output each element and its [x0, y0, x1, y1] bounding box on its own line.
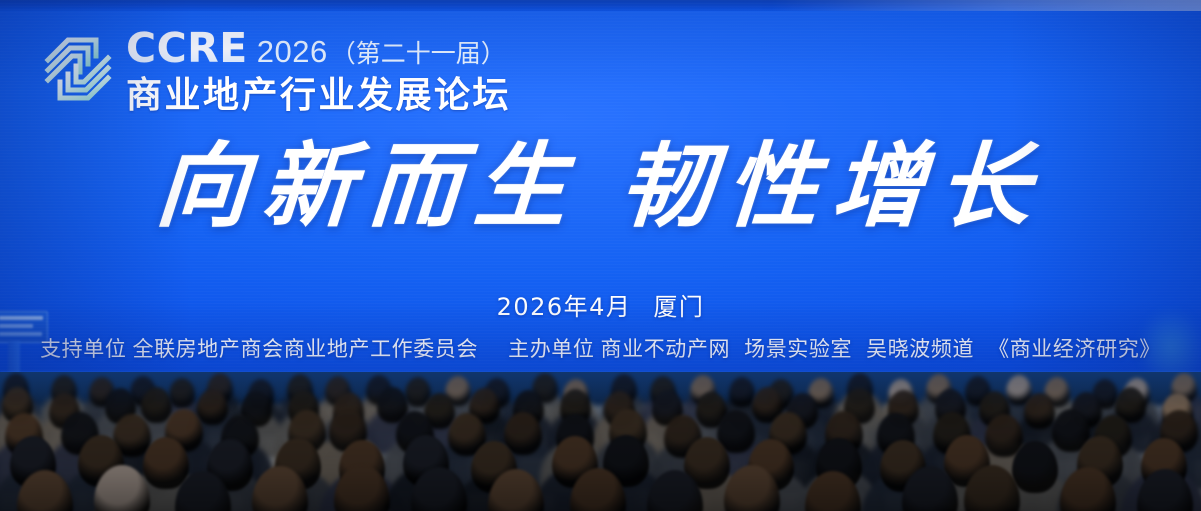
- brand-name: CCRE: [126, 28, 248, 69]
- sponsors-line: 支持单位全联房地产商会商业地产工作委员会主办单位商业不动产网场景实验室吴晓波频道…: [0, 333, 1201, 363]
- slogan-part-2: 韧性增长: [617, 132, 1049, 240]
- host-org-2: 场景实验室: [744, 337, 852, 361]
- support-label: 支持单位: [40, 337, 126, 361]
- host-org-3: 吴晓波频道: [866, 337, 974, 361]
- lockup-text-block: CCRE 2026 （第二十一届） 商业地产行业发展论坛: [126, 26, 511, 115]
- event-date: 2026年4月: [497, 293, 632, 321]
- host-org-1: 商业不动产网: [601, 337, 731, 361]
- audience-person-head: [143, 437, 189, 489]
- event-edition: （第二十一届）: [331, 41, 506, 66]
- audience-person-head: [141, 387, 172, 423]
- audience-area: [0, 372, 1201, 511]
- host-org-4: 《商业经济研究》: [988, 337, 1161, 361]
- event-dateline: 2026年4月厦门: [0, 287, 1201, 322]
- support-org: 全联房地产商会商业地产工作委员会: [132, 337, 478, 361]
- screen-top-edge: [0, 0, 1201, 11]
- audience-person-head: [729, 377, 755, 407]
- forum-title: 商业地产行业发展论坛: [126, 77, 511, 115]
- audience-person-head: [169, 378, 195, 408]
- audience-person-head: [1024, 393, 1055, 429]
- event-year: 2026: [257, 36, 328, 67]
- host-label: 主办单位: [508, 337, 594, 361]
- brand-row: CCRE 2026 （第二十一届）: [126, 28, 511, 69]
- event-city: 厦门: [653, 293, 704, 321]
- led-backdrop-screen: CCRE 2026 （第二十一届） 商业地产行业发展论坛 向新而生韧性增长 20…: [0, 0, 1201, 392]
- slogan-part-1: 向新而生: [153, 132, 585, 240]
- audience-person-head: [197, 389, 228, 425]
- event-logo-lockup: CCRE 2026 （第二十一届） 商业地产行业发展论坛: [38, 26, 511, 115]
- event-slogan: 向新而生韧性增长: [0, 140, 1201, 232]
- conference-stage-photo: CCRE 2026 （第二十一届） 商业地产行业发展论坛 向新而生韧性增长 20…: [0, 0, 1201, 511]
- side-panel-line: [0, 324, 33, 328]
- ccre-chevron-logo-icon: [38, 26, 118, 112]
